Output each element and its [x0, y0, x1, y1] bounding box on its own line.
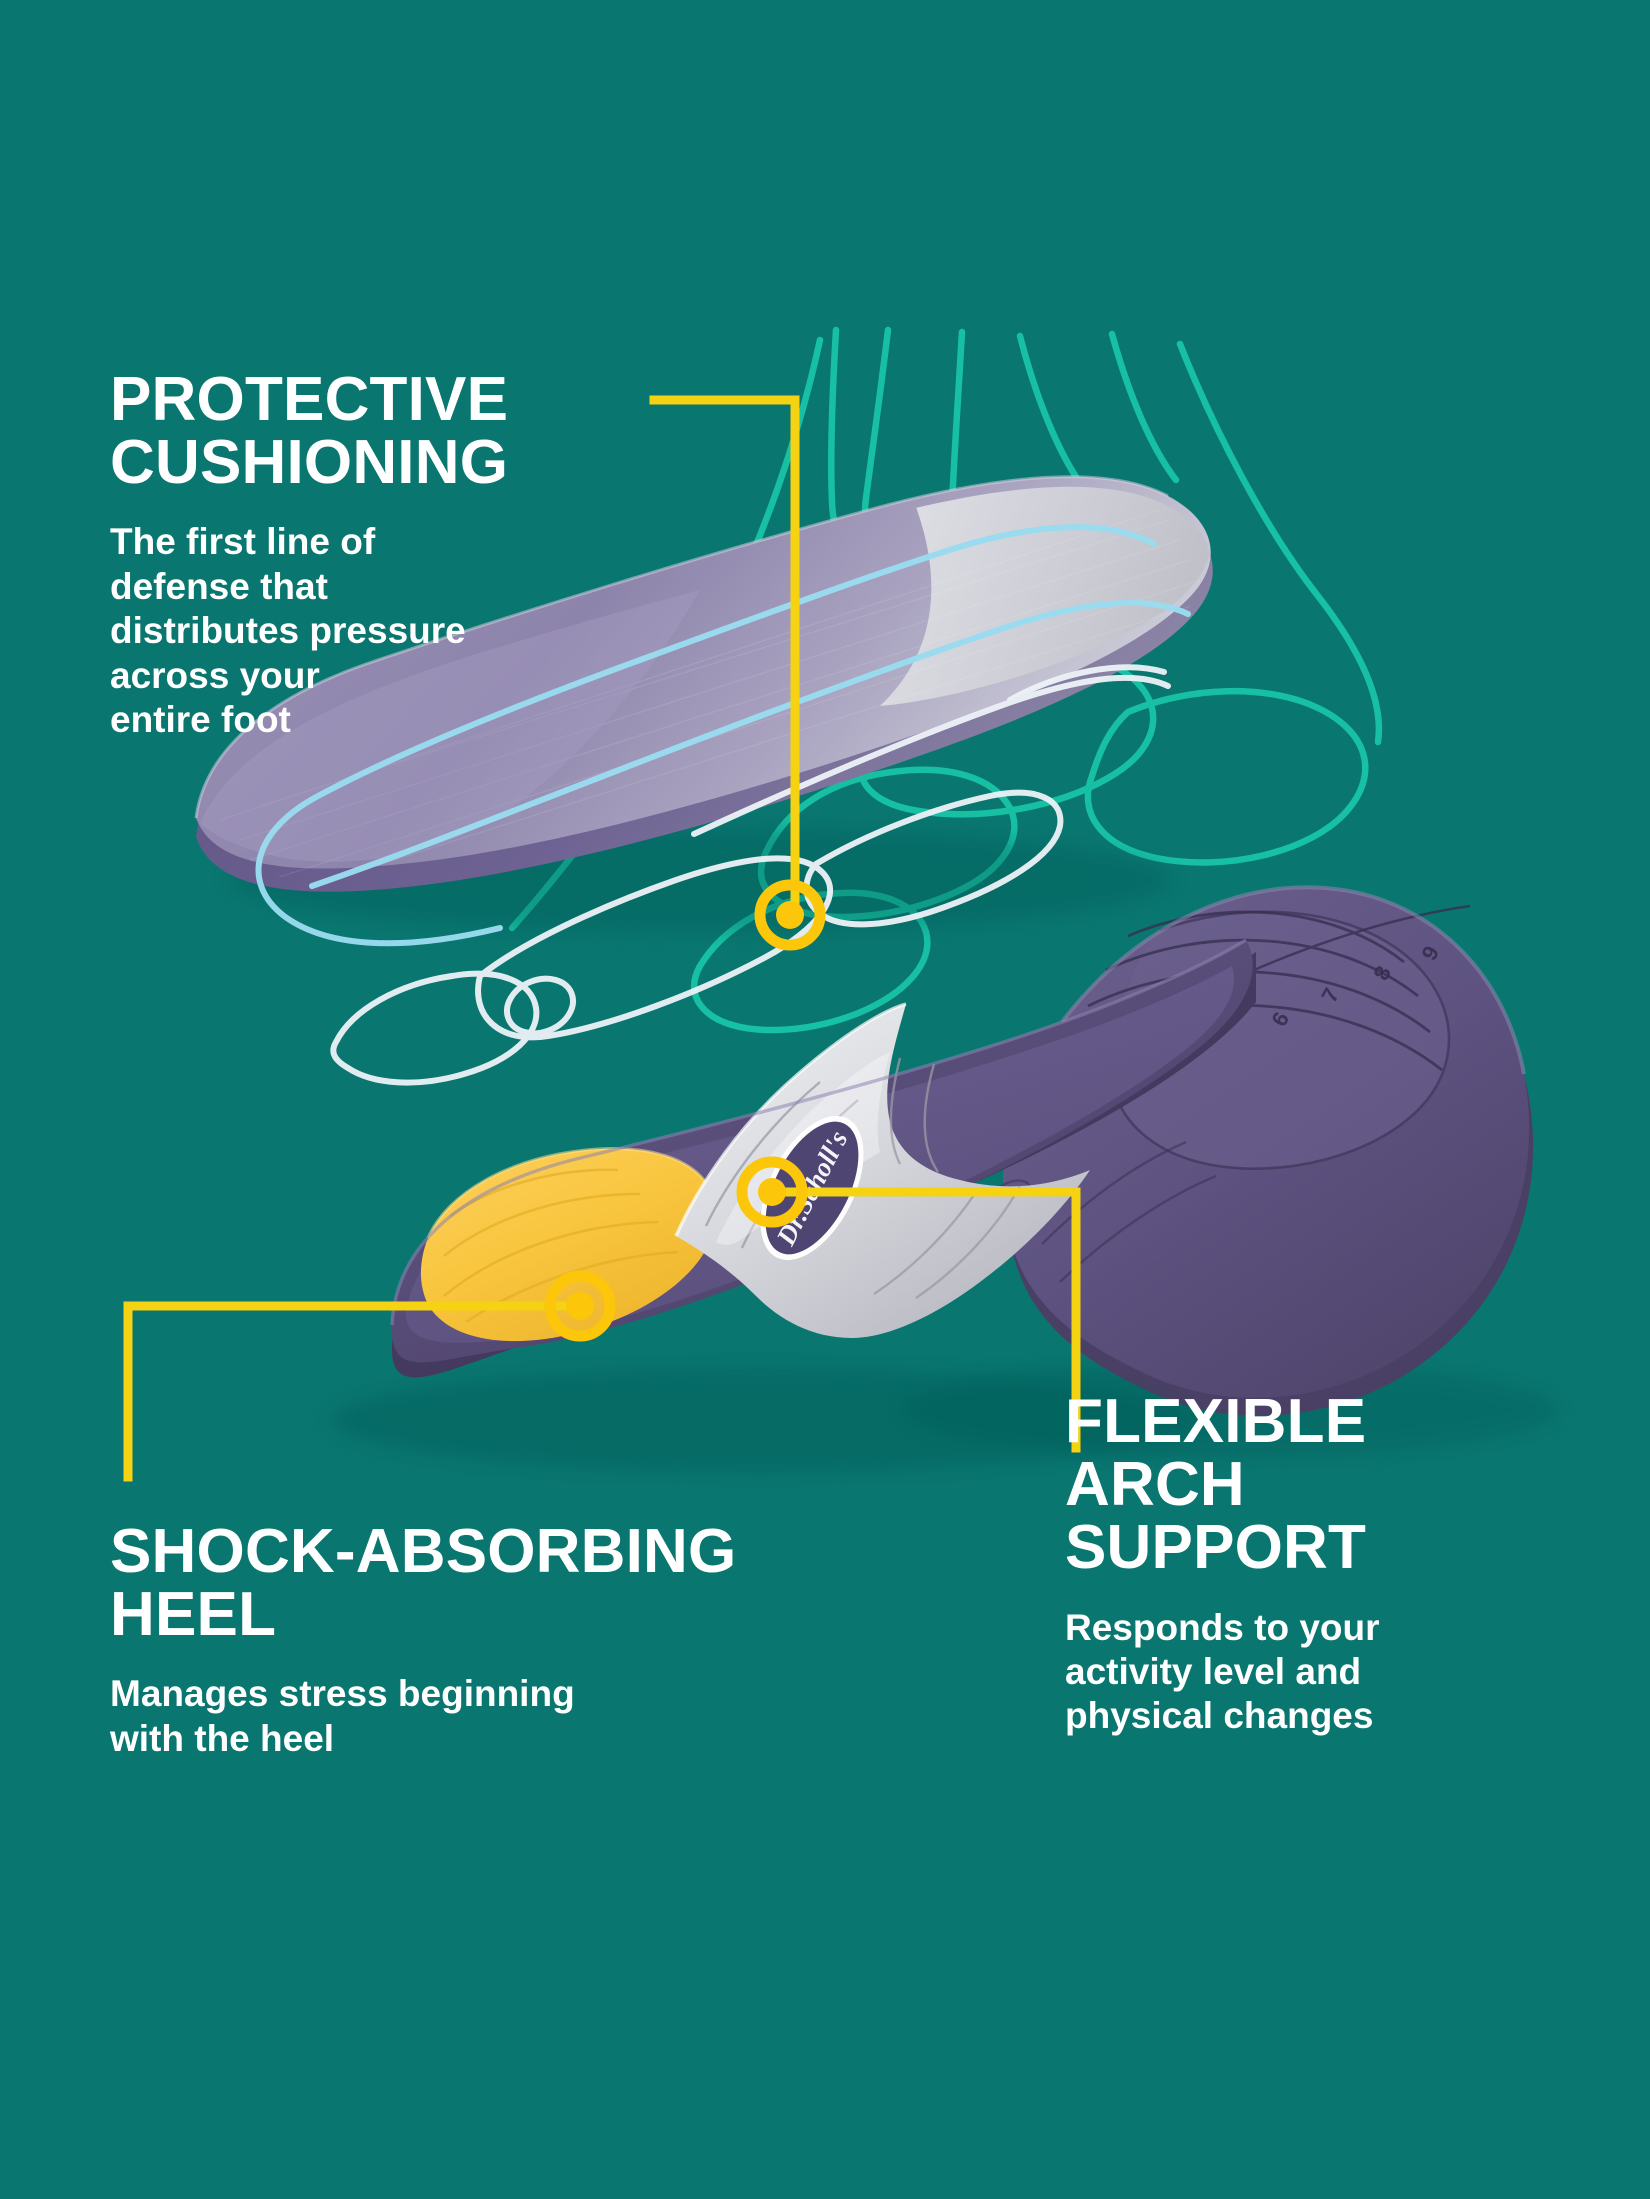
infographic-canvas: 5 9 8 15 — [0, 0, 1650, 2199]
callout-heading-protective-cushioning: PROTECTIVE CUSHIONING — [110, 368, 630, 494]
heel-size-marking: 5 9 — [1096, 756, 1183, 843]
svg-text:5 9: 5 9 — [1121, 782, 1157, 819]
callout-flexible-arch-support: FLEXIBLE ARCH SUPPORT Responds to your a… — [1065, 1390, 1495, 1739]
callout-body-shock-absorbing-heel: Manages stress beginning with the heel — [110, 1672, 930, 1761]
heel-size-marking-secondary: 8 15 — [1178, 761, 1223, 813]
svg-text:8 15: 8 15 — [1181, 764, 1222, 808]
callout-body-protective-cushioning: The first line of defense that distribut… — [110, 520, 610, 742]
callout-heading-shock-absorbing-heel: SHOCK-ABSORBING HEEL — [110, 1520, 930, 1646]
insole-illustration: 5 9 8 15 — [0, 0, 1650, 2199]
callout-body-flexible-arch-support: Responds to your activity level and phys… — [1065, 1606, 1495, 1739]
callout-protective-cushioning: PROTECTIVE CUSHIONING The first line of … — [110, 368, 630, 742]
callout-shock-absorbing-heel: SHOCK-ABSORBING HEEL Manages stress begi… — [110, 1520, 930, 1761]
callout-heading-flexible-arch-support: FLEXIBLE ARCH SUPPORT — [1065, 1390, 1495, 1580]
